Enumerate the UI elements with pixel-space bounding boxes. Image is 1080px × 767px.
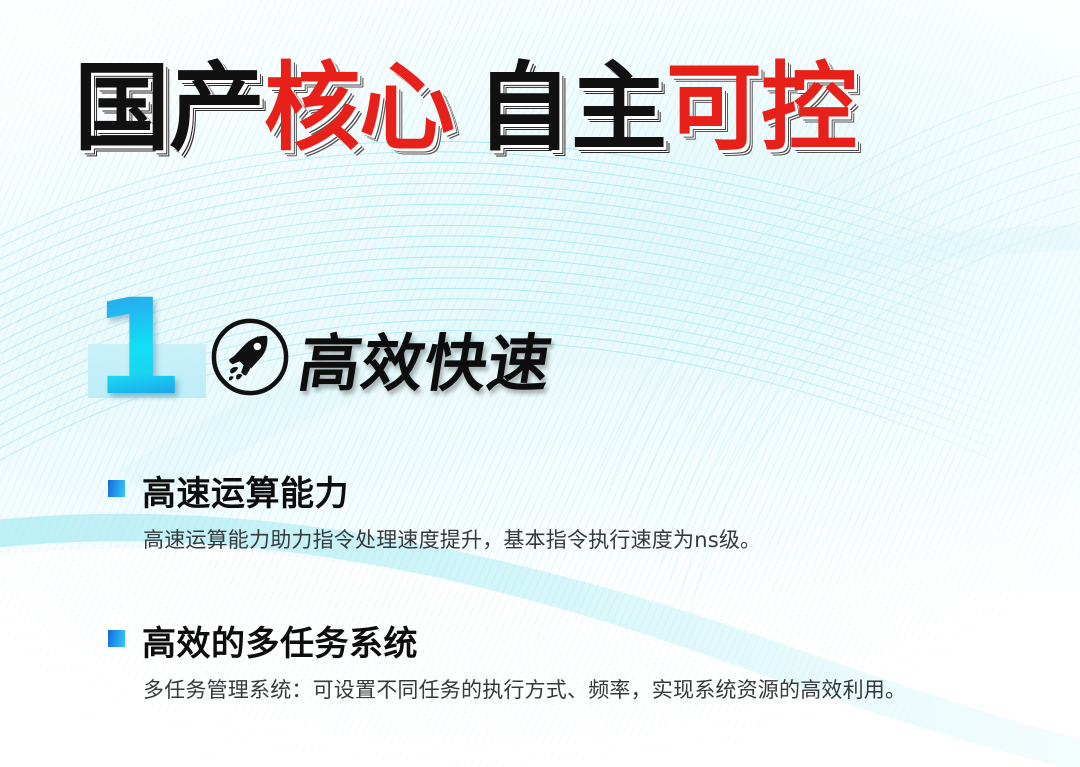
title-segment-guochan: 国产 xyxy=(74,58,264,159)
bullet-title: 高速运算能力 xyxy=(142,466,349,515)
title-segment-kekong: 可控 xyxy=(666,58,856,159)
title-spacer xyxy=(454,58,476,159)
section-title: 高效快速 xyxy=(293,313,559,403)
bullet-item-2: 高效的多任务系统 多任务管理系统：可设置不同任务的执行方式、频率，实现系统资源的… xyxy=(0,616,1080,662)
bullet-item-1: 高速运算能力 高速运算能力助力指令处理速度提升，基本指令执行速度为ns级。 xyxy=(0,466,1080,512)
square-bullet-icon xyxy=(108,480,125,497)
slide-canvas: 国产核心 自主可控 1 高效快速 高速运算能力 xyxy=(0,0,1080,767)
page-title: 国产核心 自主可控 xyxy=(74,58,856,159)
section-number: 1 xyxy=(92,282,180,414)
title-segment-zizhu: 自主 xyxy=(476,58,666,159)
bullet-description: 多任务管理系统：可设置不同任务的执行方式、频率，实现系统资源的高效利用。 xyxy=(143,674,906,704)
rocket-icon xyxy=(209,316,291,398)
square-bullet-icon xyxy=(108,630,125,647)
bullet-description: 高速运算能力助力指令处理速度提升，基本指令执行速度为ns级。 xyxy=(143,524,761,554)
title-segment-hexin: 核心 xyxy=(264,58,454,159)
bullet-title: 高效的多任务系统 xyxy=(142,616,418,665)
